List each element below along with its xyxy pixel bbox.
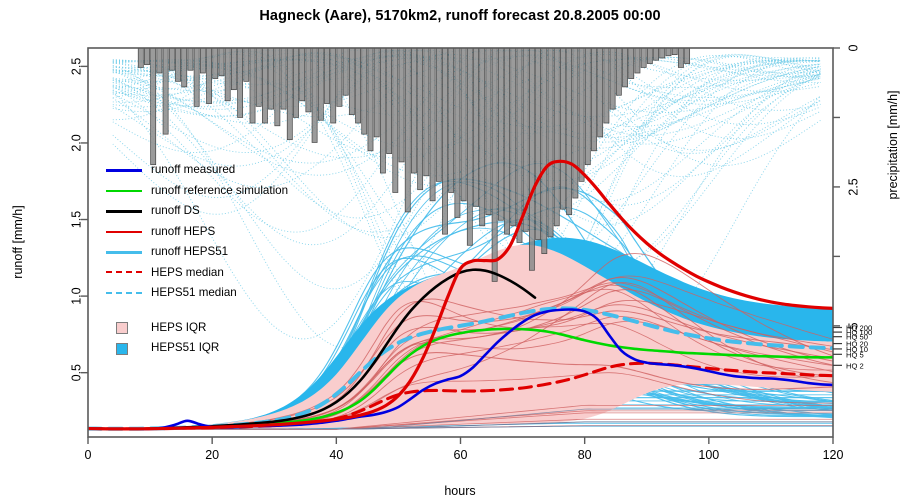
precipitation-bar — [449, 48, 454, 192]
legend-item-3: runoff HEPS — [104, 222, 318, 243]
precipitation-bar — [163, 48, 168, 134]
precipitation-bar — [138, 48, 143, 67]
precipitation-bar — [194, 48, 199, 106]
precipitation-bar — [529, 48, 534, 270]
legend-swatch-box — [104, 321, 144, 335]
legend-label: runoff measured — [151, 164, 235, 176]
precipitation-bar — [654, 48, 659, 60]
precipitation-bar — [238, 48, 243, 117]
precipitation-bar — [287, 48, 292, 140]
precipitation-bar — [685, 48, 690, 64]
precipitation-bar — [411, 48, 416, 173]
precipitation-bar — [560, 48, 565, 209]
legend-swatch-line — [104, 225, 144, 239]
legend-label: runoff HEPS51 — [151, 246, 228, 258]
precipitation-bar — [591, 48, 596, 151]
precipitation-bar — [188, 48, 193, 70]
legend-item-2: runoff DS — [104, 201, 318, 222]
y-tick-label-left: 2.0 — [69, 134, 83, 151]
precipitation-bar — [306, 48, 311, 112]
precipitation-bar — [604, 48, 609, 123]
precipitation-bar — [269, 48, 274, 109]
y-tick-label-left: 1.5 — [69, 211, 83, 228]
precipitation-bar — [231, 48, 236, 90]
precipitation-bar — [461, 48, 466, 201]
precipitation-bar — [641, 48, 646, 67]
precipitation-bar — [293, 48, 298, 117]
precipitation-bar — [399, 48, 404, 162]
precipitation-bar — [380, 48, 385, 173]
precipitation-bar — [473, 48, 478, 206]
x-tick-label: 80 — [578, 448, 592, 462]
precipitation-bar — [672, 48, 677, 55]
precipitation-bar — [498, 48, 503, 220]
legend-label: HEPS median — [151, 267, 224, 279]
legend-label: runoff HEPS — [151, 226, 215, 238]
precipitation-bar — [387, 48, 392, 154]
legend-item-box-0: HEPS IQR — [104, 318, 318, 339]
x-tick-label: 20 — [205, 448, 219, 462]
precipitation-bar — [647, 48, 652, 64]
y-axis-label-left: runoff [mm/h] — [11, 205, 25, 278]
x-tick-label: 100 — [698, 448, 719, 462]
precipitation-bar — [144, 48, 149, 65]
x-tick-label: 0 — [85, 448, 92, 462]
precipitation-bar — [356, 48, 361, 123]
precipitation-bar — [244, 48, 249, 81]
x-tick-label: 40 — [329, 448, 343, 462]
precipitation-bar — [424, 48, 429, 176]
precipitation-bar — [349, 48, 354, 115]
precipitation-bar — [275, 48, 280, 126]
precipitation-bar — [436, 48, 441, 181]
precipitation-bar — [666, 48, 671, 56]
precipitation-bar — [418, 48, 423, 190]
precipitation-bar — [368, 48, 373, 151]
precipitation-bar — [200, 48, 205, 73]
hq-label: HQ 2 — [846, 361, 864, 370]
precipitation-bar — [225, 48, 230, 101]
legend-item-6: HEPS51 median — [104, 283, 318, 304]
legend-label: HEPS51 IQR — [151, 342, 219, 354]
precipitation-bar — [312, 48, 317, 142]
precipitation-bar — [175, 48, 180, 81]
legend-item-5: HEPS median — [104, 263, 318, 284]
precipitation-bar — [405, 48, 410, 212]
precipitation-bar — [157, 48, 162, 73]
precipitation-bar — [331, 48, 336, 123]
precipitation-bar — [374, 48, 379, 137]
precipitation-bar — [343, 48, 348, 95]
precipitation-bar — [511, 48, 516, 226]
legend-item-0: runoff measured — [104, 160, 318, 181]
precipitation-bar — [262, 48, 267, 123]
precipitation-bar — [492, 48, 497, 281]
y-tick-label-left: 1.0 — [69, 287, 83, 304]
legend-label: runoff DS — [151, 205, 200, 217]
legend-label: HEPS51 median — [151, 287, 237, 299]
chart-legend: runoff measuredrunoff reference simulati… — [104, 160, 318, 359]
legend-label: HEPS IQR — [151, 322, 206, 334]
precipitation-bar — [207, 48, 212, 104]
precipitation-bar — [536, 48, 541, 240]
precipitation-bar — [467, 48, 472, 245]
legend-swatch-line — [104, 266, 144, 280]
precipitation-bar — [660, 48, 665, 58]
hq-markers: HQ 200HQ 100HQ 50HQ 20HQ 10HQ 5HQ 2 — [833, 323, 872, 370]
precipitation-bar — [393, 48, 398, 192]
precipitation-bar — [629, 48, 634, 79]
precipitation-bar — [598, 48, 603, 137]
y-axis-label-right: precipitation [mm/h] — [886, 90, 900, 199]
precipitation-bar — [678, 48, 683, 67]
precipitation-bar — [505, 48, 510, 234]
precipitation-bar — [480, 48, 485, 226]
precipitation-bar — [151, 48, 156, 165]
precipitation-bar — [430, 48, 435, 201]
y-tick-label-left: 2.5 — [69, 58, 83, 75]
precipitation-bar — [442, 48, 447, 234]
precipitation-bar — [213, 48, 218, 79]
precipitation-bar — [635, 48, 640, 73]
legend-swatch-line — [104, 204, 144, 218]
x-tick-label: 120 — [823, 448, 844, 462]
precipitation-bar — [318, 48, 323, 120]
precipitation-bar — [250, 48, 255, 123]
precipitation-bar — [219, 48, 224, 76]
precipitation-bar — [548, 48, 553, 237]
precipitation-bar — [585, 48, 590, 165]
precipitation-bar — [182, 48, 187, 87]
legend-swatch-line — [104, 184, 144, 198]
y-tick-label-right: 0 — [846, 44, 860, 51]
hq-label: HQ 5 — [846, 350, 864, 359]
legend-swatch-line — [104, 163, 144, 177]
precipitation-bar — [455, 48, 460, 217]
precipitation-bar — [256, 48, 261, 106]
precipitation-bar — [542, 48, 547, 254]
legend-line-entries: runoff measuredrunoff reference simulati… — [104, 160, 318, 304]
precipitation-bar — [324, 48, 329, 104]
legend-swatch-line — [104, 245, 144, 259]
precipitation-bar — [573, 48, 578, 198]
precipitation-bar — [362, 48, 367, 134]
precipitation-bar — [579, 48, 584, 181]
legend-swatch-box — [104, 341, 144, 355]
precipitation-bar — [169, 48, 174, 70]
precipitation-bar — [486, 48, 491, 215]
legend-swatch-line — [104, 286, 144, 300]
precipitation-bar — [517, 48, 522, 243]
legend-item-4: runoff HEPS51 — [104, 242, 318, 263]
x-axis-label: hours — [444, 484, 475, 498]
precipitation-bar — [281, 48, 286, 109]
precipitation-bar — [610, 48, 615, 109]
precipitation-bar — [337, 48, 342, 106]
precipitation-bar — [616, 48, 621, 95]
precipitation-bar — [622, 48, 627, 87]
legend-item-1: runoff reference simulation — [104, 181, 318, 202]
precipitation-bar — [554, 48, 559, 226]
precipitation-bar — [300, 48, 305, 101]
legend-label: runoff reference simulation — [151, 185, 288, 197]
precipitation-bar — [567, 48, 572, 215]
legend-item-box-1: HEPS51 IQR — [104, 338, 318, 359]
chart-root: Hagneck (Aare), 5170km2, runoff forecast… — [0, 0, 920, 504]
y-tick-label-right: 2.5 — [846, 178, 860, 195]
y-tick-label-left: 0.5 — [69, 364, 83, 381]
x-tick-label: 60 — [454, 448, 468, 462]
legend-box-entries: HEPS IQRHEPS51 IQR — [104, 318, 318, 359]
